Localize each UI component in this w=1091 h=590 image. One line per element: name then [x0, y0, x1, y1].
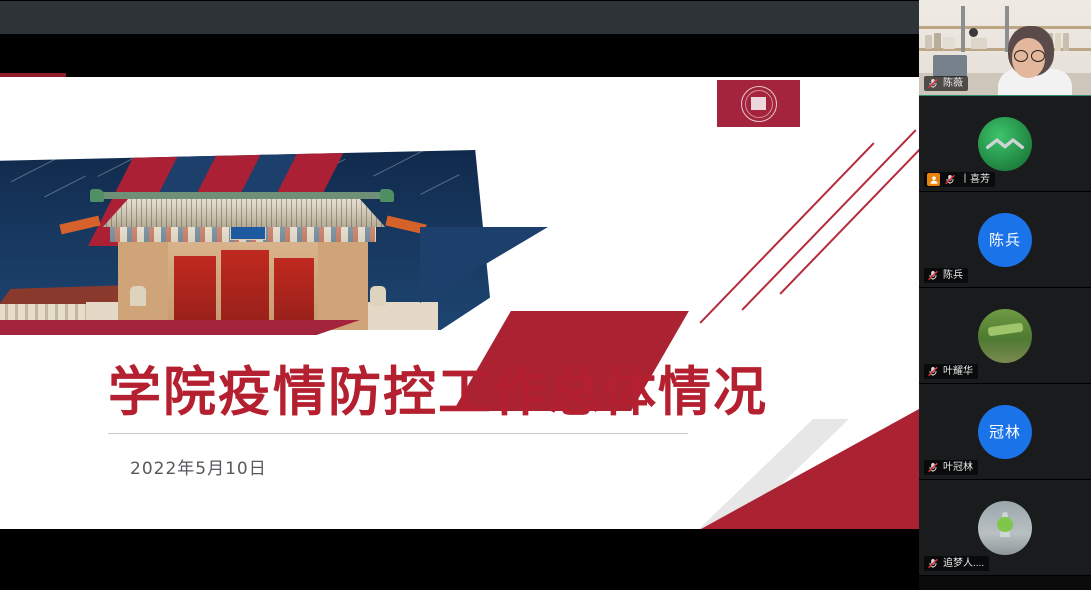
presentation-bottom-bar — [0, 529, 919, 590]
shared-screen-stage[interactable]: 学院疫情防控工作总体情况 2022年5月10日 — [0, 0, 919, 590]
participant-name: 叶冠林 — [943, 461, 973, 474]
mic-muted-icon — [927, 365, 939, 378]
gate-photo — [0, 150, 490, 330]
participant-name-bar: 陈薇 — [924, 76, 968, 91]
mic-muted-icon — [927, 269, 939, 282]
participant-name: 陈薇 — [943, 77, 963, 90]
participant-name-bar: 叶耀华 — [924, 364, 978, 379]
presentation-top-black-bar — [0, 34, 919, 76]
meeting-window: 学院疫情防控工作总体情况 2022年5月10日 — [0, 0, 1091, 590]
slide-title: 学院疫情防控工作总体情况 — [108, 365, 788, 421]
participant-tile[interactable]: 陈兵 陈兵 — [919, 192, 1091, 288]
participant-filmstrip[interactable]: 陈薇 丨喜芳 陈兵 陈兵 叶耀华 冠林 叶冠林 — [919, 0, 1091, 590]
glasses — [1014, 50, 1044, 60]
host-person-icon — [929, 175, 939, 185]
participant-avatar — [978, 117, 1032, 171]
participant-name: 陈兵 — [943, 269, 963, 282]
participant-tile[interactable]: 叶耀华 — [919, 288, 1091, 384]
participant-tile[interactable]: 追梦人.... — [919, 480, 1091, 576]
mic-muted-icon — [944, 173, 956, 186]
green-logo-mark — [985, 137, 1025, 151]
presentation-slide[interactable]: 学院疫情防控工作总体情况 2022年5月10日 — [0, 77, 919, 529]
participant-avatar — [978, 501, 1032, 555]
participant-tile[interactable]: 丨喜芳 — [919, 96, 1091, 192]
title-divider — [108, 433, 688, 434]
avatar-initials: 冠林 — [989, 421, 1021, 442]
participant-avatar: 冠林 — [978, 405, 1032, 459]
participant-name-bar: 叶冠林 — [924, 460, 978, 475]
mic-muted-icon — [927, 461, 939, 474]
presentation-top-gray-bar — [0, 1, 919, 34]
participant-name: 叶耀华 — [943, 365, 973, 378]
participant-tile[interactable]: 冠林 叶冠林 — [919, 384, 1091, 480]
participant-name-bar: 丨喜芳 — [924, 172, 995, 187]
participant-avatar — [978, 309, 1032, 363]
participant-name-bar: 陈兵 — [924, 268, 968, 283]
participant-name: 丨喜芳 — [960, 173, 990, 186]
participant-name-bar: 追梦人.... — [924, 556, 989, 571]
seal-icon — [741, 86, 777, 122]
crimson-band — [0, 320, 360, 335]
participant-name: 追梦人.... — [943, 557, 984, 570]
diagonal-line-2 — [741, 129, 916, 310]
mic-muted-icon — [927, 557, 939, 570]
slide-date: 2022年5月10日 — [130, 454, 788, 479]
mic-muted-icon — [927, 77, 939, 90]
participant-avatar: 陈兵 — [978, 213, 1032, 267]
university-seal-logo — [717, 80, 800, 127]
participant-tile[interactable]: 陈薇 — [919, 0, 1091, 96]
host-badge — [927, 173, 940, 186]
avatar-initials: 陈兵 — [989, 229, 1021, 250]
slide-title-block: 学院疫情防控工作总体情况 2022年5月10日 — [108, 365, 788, 479]
diagonal-line-1 — [699, 142, 874, 323]
